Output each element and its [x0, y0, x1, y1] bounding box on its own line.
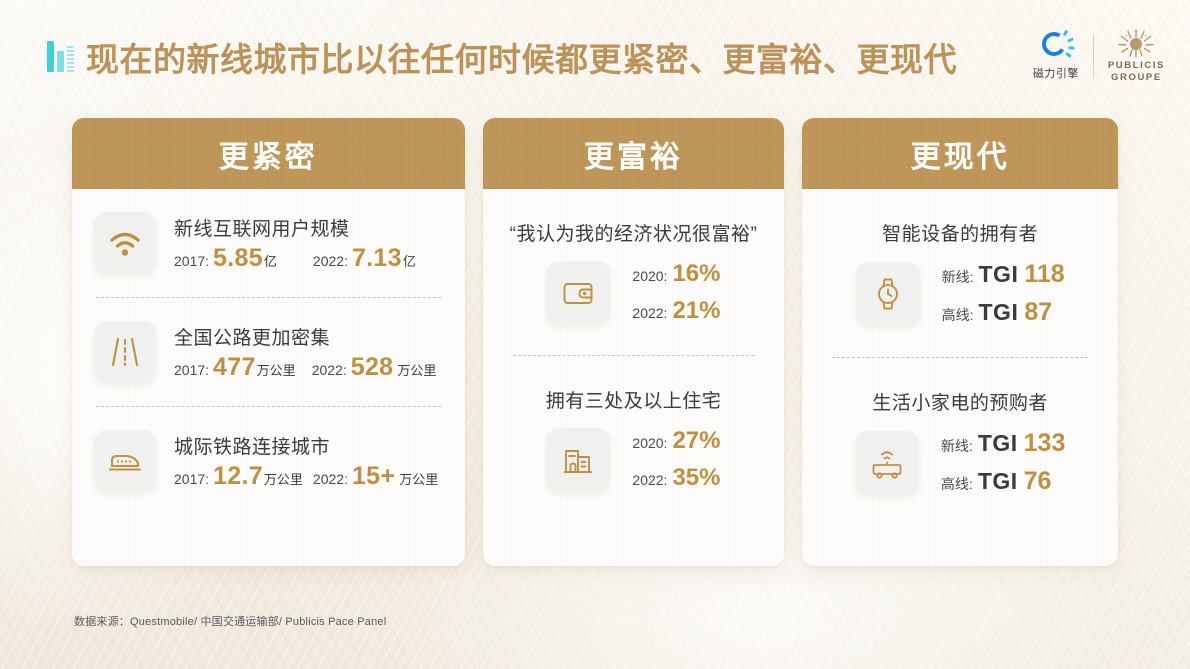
metric-block: 拥有三处及以上住宅 — [505, 356, 763, 492]
stat-2017: 2017: 477 万公里 — [174, 353, 296, 382]
publicis-line-1: PUBLICIS — [1108, 60, 1165, 71]
kuaishou-logo: 磁力引擎 — [1033, 31, 1079, 81]
stat-2022: 2022: 7.13 亿 — [313, 244, 416, 273]
card-heading: 更紧密 — [219, 132, 318, 176]
tgi-segment: 高线: — [942, 305, 974, 325]
cards-container: 更紧密 新线互联网用户规模 20 — [72, 118, 1118, 566]
stat-2017: 2017: 12.7 万公里 — [174, 462, 303, 491]
logo-group: 磁力引擎 — [1033, 26, 1165, 86]
metric-2022: 2022: 35% — [632, 464, 720, 492]
stat-row-label: 新线互联网用户规模 — [174, 214, 416, 241]
stat-value: 528 — [351, 353, 394, 382]
card-body-closer: 新线互联网用户规模 2017: 5.85 亿 2022: 7.13 亿 — [72, 189, 465, 566]
stat-row-text: 新线互联网用户规模 2017: 5.85 亿 2022: 7.13 亿 — [174, 214, 416, 273]
stat-row-text: 全国公路更加密集 2017: 477 万公里 2022: 528 万公里 — [174, 323, 436, 382]
train-icon — [94, 430, 156, 492]
metric-block: 智能设备的拥有者 — [824, 189, 1096, 327]
logo-divider — [1093, 34, 1094, 78]
stat-unit: 亿 — [264, 251, 277, 270]
publicis-logo: PUBLICIS GROUPE — [1108, 28, 1165, 84]
stat-value: 477 — [213, 353, 256, 382]
kuaishou-logo-label: 磁力引擎 — [1033, 65, 1079, 81]
tgi-value: 87 — [1024, 298, 1052, 327]
stat-year: 2017: — [174, 471, 209, 487]
metric-2020: 2020: 16% — [632, 260, 720, 288]
stat-unit: 万公里 — [257, 360, 296, 379]
publicis-sun-icon — [1115, 28, 1157, 58]
stat-year: 2022: — [313, 471, 348, 487]
publicis-line-2: GROUPE — [1111, 72, 1162, 83]
stat-year: 2017: — [174, 253, 209, 269]
stat-row: 全国公路更加密集 2017: 477 万公里 2022: 528 万公里 — [94, 298, 443, 406]
metric-value: 35% — [672, 464, 720, 492]
metric-block-title: 智能设备的拥有者 — [824, 219, 1096, 246]
tgi-label: TGI — [979, 261, 1019, 288]
card-body-richer: “我认为我的经济状况很富裕” 2020: — [483, 189, 785, 566]
stat-year: 2022: — [312, 362, 347, 378]
stat-values: 2017: 5.85 亿 2022: 7.13 亿 — [174, 244, 416, 273]
metric-block-row: 2020: 16% 2022: 21% — [505, 260, 763, 325]
tgi-label: TGI — [979, 299, 1019, 326]
kuaishou-c-icon — [1041, 31, 1071, 61]
tgi-segment: 新线: — [942, 267, 974, 287]
metric-value: 27% — [672, 427, 720, 455]
card-heading: 更现代 — [911, 132, 1010, 176]
stat-row: 新线互联网用户规模 2017: 5.85 亿 2022: 7.13 亿 — [94, 189, 443, 297]
tgi-value: 133 — [1024, 429, 1066, 458]
building-icon — [546, 428, 610, 492]
metric-block: 生活小家电的预购者 — [824, 358, 1096, 496]
metric-block-row: 新线: TGI 118 高线: TGI 87 — [824, 260, 1096, 327]
metric-block: “我认为我的经济状况很富裕” 2020: — [505, 189, 763, 325]
stat-values: 2017: 12.7 万公里 2022: 15+ 万公里 — [174, 462, 438, 491]
tgi-high-tier: 高线: TGI 87 — [942, 298, 1065, 327]
metric-year: 2020: — [632, 268, 667, 284]
card-header-richer: 更富裕 — [483, 118, 785, 189]
metric-values: 新线: TGI 118 高线: TGI 87 — [942, 260, 1065, 327]
metric-block-row: 新线: TGI 133 高线: TGI 76 — [824, 429, 1096, 496]
metric-year: 2022: — [632, 472, 667, 488]
tgi-new-tier: 新线: TGI 133 — [941, 429, 1065, 458]
stat-values: 2017: 477 万公里 2022: 528 万公里 — [174, 353, 436, 382]
stat-value: 7.13 — [352, 244, 402, 273]
tgi-segment: 新线: — [941, 436, 973, 456]
tgi-value: 76 — [1024, 467, 1052, 496]
card-richer: 更富裕 “我认为我的经济状况很富裕” — [483, 118, 785, 566]
page-header: 现在的新线城市比以往任何时候都更紧密、更富裕、更现代 磁力引擎 — [0, 0, 1190, 104]
tgi-value: 118 — [1024, 260, 1064, 289]
stat-2022: 2022: 528 万公里 — [312, 353, 437, 382]
tgi-new-tier: 新线: TGI 118 — [942, 260, 1065, 289]
wifi-icon — [94, 212, 156, 274]
metric-2020: 2020: 27% — [632, 427, 720, 455]
metric-year: 2022: — [632, 305, 667, 321]
stat-unit: 万公里 — [264, 469, 303, 488]
metric-values: 2020: 16% 2022: 21% — [632, 260, 720, 325]
stat-value: 12.7 — [213, 462, 263, 491]
metric-block-title: “我认为我的经济状况很富裕” — [505, 219, 763, 246]
stat-row-label: 全国公路更加密集 — [174, 323, 436, 350]
stat-row-text: 城际铁路连接城市 2017: 12.7 万公里 2022: 15+ 万公里 — [174, 432, 438, 491]
card-modern: 更现代 智能设备的拥有者 — [802, 118, 1118, 566]
card-header-modern: 更现代 — [802, 118, 1118, 189]
stat-2022: 2022: 15+ 万公里 — [313, 462, 438, 491]
publicis-logo-label: PUBLICIS GROUPE — [1108, 60, 1165, 84]
stat-year: 2022: — [313, 253, 348, 269]
stat-row-label: 城际铁路连接城市 — [174, 432, 438, 459]
smartwatch-icon — [856, 262, 920, 326]
tgi-label: TGI — [978, 468, 1018, 495]
card-heading: 更富裕 — [584, 132, 683, 176]
stat-value: 5.85 — [213, 244, 263, 273]
metric-value: 21% — [672, 297, 720, 325]
tgi-high-tier: 高线: TGI 76 — [941, 467, 1065, 496]
metric-values: 新线: TGI 133 高线: TGI 76 — [941, 429, 1065, 496]
source-note: 数据来源：Questmobile/ 中国交通运输部/ Publicis Pace… — [74, 613, 386, 629]
tgi-label: TGI — [978, 430, 1018, 457]
metric-block-row: 2020: 27% 2022: 35% — [505, 427, 763, 492]
stat-2017: 2017: 5.85 亿 — [174, 244, 277, 273]
stat-unit: 亿 — [403, 251, 416, 270]
stat-value: 15+ — [352, 462, 395, 491]
tgi-segment: 高线: — [941, 474, 973, 494]
stat-unit: 万公里 — [397, 360, 436, 379]
metric-block-title: 生活小家电的预购者 — [824, 388, 1096, 415]
card-closer: 更紧密 新线互联网用户规模 20 — [72, 118, 465, 566]
metric-year: 2020: — [632, 435, 667, 451]
robot-vacuum-wifi-icon — [855, 431, 919, 495]
metric-2022: 2022: 21% — [632, 297, 720, 325]
metric-block-title: 拥有三处及以上住宅 — [505, 386, 763, 413]
card-body-modern: 智能设备的拥有者 — [802, 189, 1118, 566]
stat-year: 2017: — [174, 362, 209, 378]
stat-row: 城际铁路连接城市 2017: 12.7 万公里 2022: 15+ 万公里 — [94, 407, 443, 515]
road-icon — [94, 321, 156, 383]
bar-chart-mark-icon — [47, 38, 83, 72]
card-header-closer: 更紧密 — [72, 118, 465, 189]
page-title: 现在的新线城市比以往任何时候都更紧密、更富裕、更现代 — [86, 33, 957, 81]
metric-values: 2020: 27% 2022: 35% — [632, 427, 720, 492]
wallet-icon — [546, 261, 610, 325]
metric-value: 16% — [672, 260, 720, 288]
stat-unit: 万公里 — [399, 469, 438, 488]
